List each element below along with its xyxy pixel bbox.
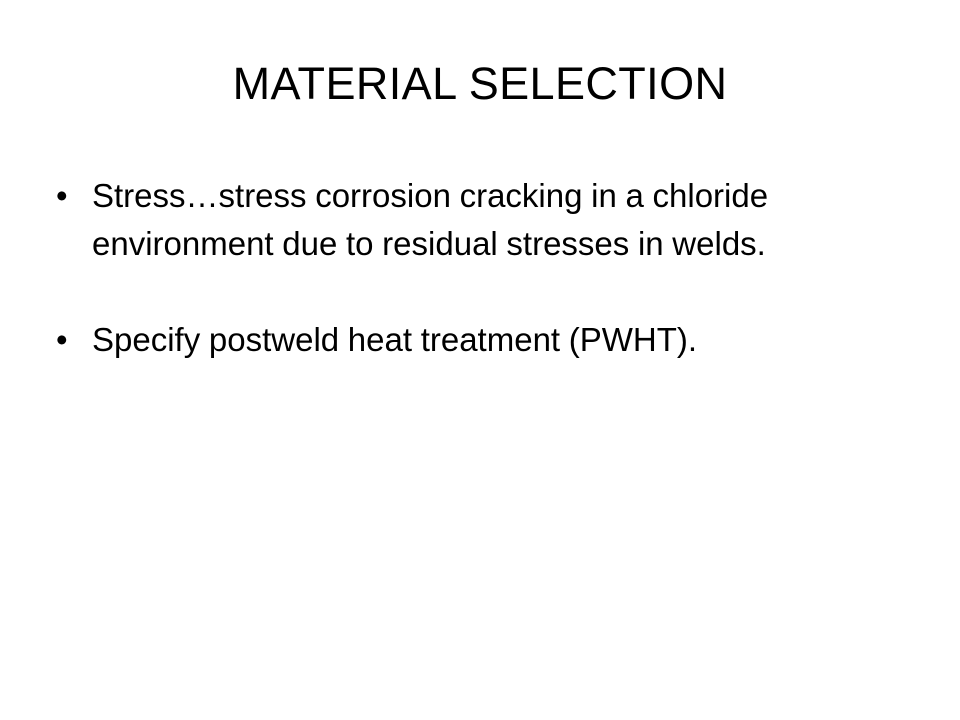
list-item[interactable]: • Stress…stress corrosion cracking in a … (52, 172, 912, 268)
slide-content-placeholder[interactable]: • Stress…stress corrosion cracking in a … (52, 172, 912, 364)
bullet-point-icon: • (52, 316, 92, 364)
slide-title-placeholder[interactable]: MATERIAL SELECTION (60, 56, 900, 112)
list-item-label: Stress…stress corrosion cracking in a ch… (92, 172, 912, 268)
list-item[interactable]: • Specify postweld heat treatment (PWHT)… (52, 316, 912, 364)
page-title: MATERIAL SELECTION (233, 56, 728, 112)
list-item-spacer[interactable] (52, 268, 912, 316)
slide-canvas: MATERIAL SELECTION • Stress…stress corro… (0, 0, 960, 720)
bullet-point-icon: • (52, 172, 92, 220)
list-item-label: Specify postweld heat treatment (PWHT). (92, 316, 912, 364)
